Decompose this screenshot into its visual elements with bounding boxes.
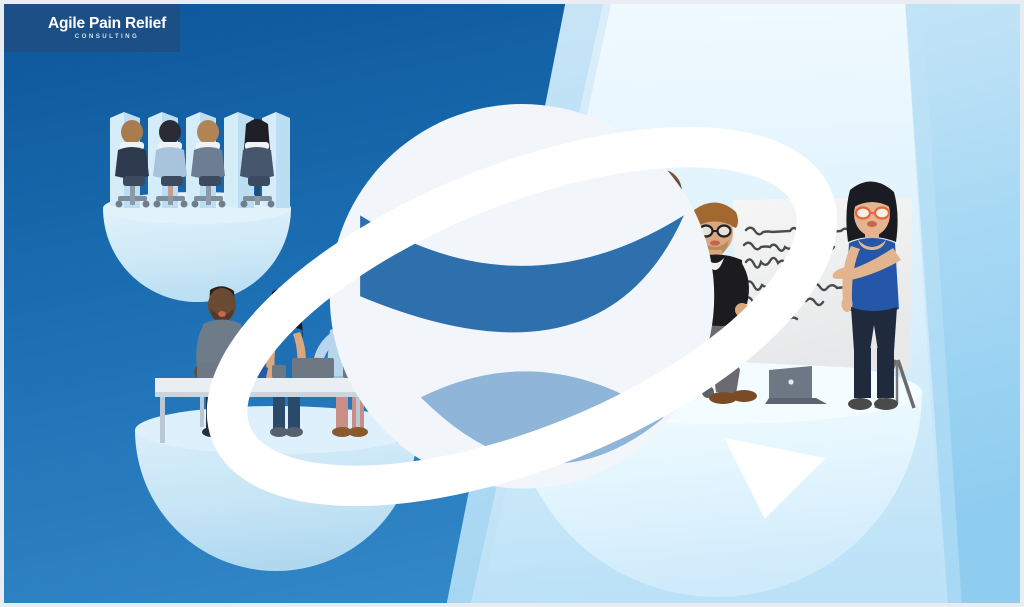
brand-banner: Agile Pain Relief CONSULTING bbox=[4, 4, 180, 52]
illustration-canvas: Agile Pain Relief CONSULTING bbox=[0, 0, 1024, 607]
brand-name: Agile Pain Relief bbox=[48, 16, 166, 32]
globe-orbit-icon bbox=[10, 13, 44, 43]
brand-tagline: CONSULTING bbox=[48, 34, 166, 40]
